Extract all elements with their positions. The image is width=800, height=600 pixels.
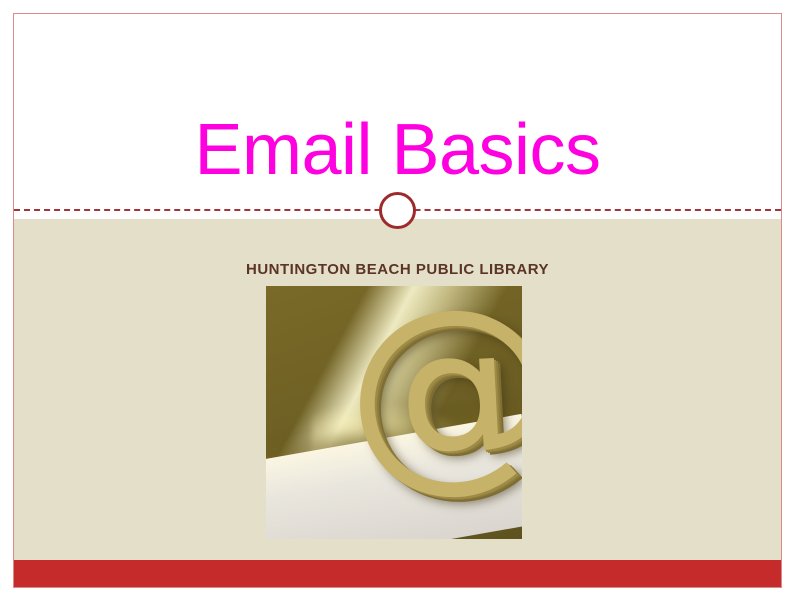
- slide-subtitle: HUNTINGTON BEACH PUBLIC LIBRARY: [14, 261, 781, 278]
- slide-title: Email Basics: [14, 114, 781, 186]
- circle-ornament-icon: [379, 192, 416, 229]
- at-sign-photo: @: [266, 286, 522, 539]
- at-symbol-icon: @: [341, 286, 522, 481]
- slide-frame: Email Basics HUNTINGTON BEACH PUBLIC LIB…: [13, 13, 782, 588]
- bottom-red-band: [14, 560, 781, 587]
- slide-canvas: Email Basics HUNTINGTON BEACH PUBLIC LIB…: [0, 0, 800, 600]
